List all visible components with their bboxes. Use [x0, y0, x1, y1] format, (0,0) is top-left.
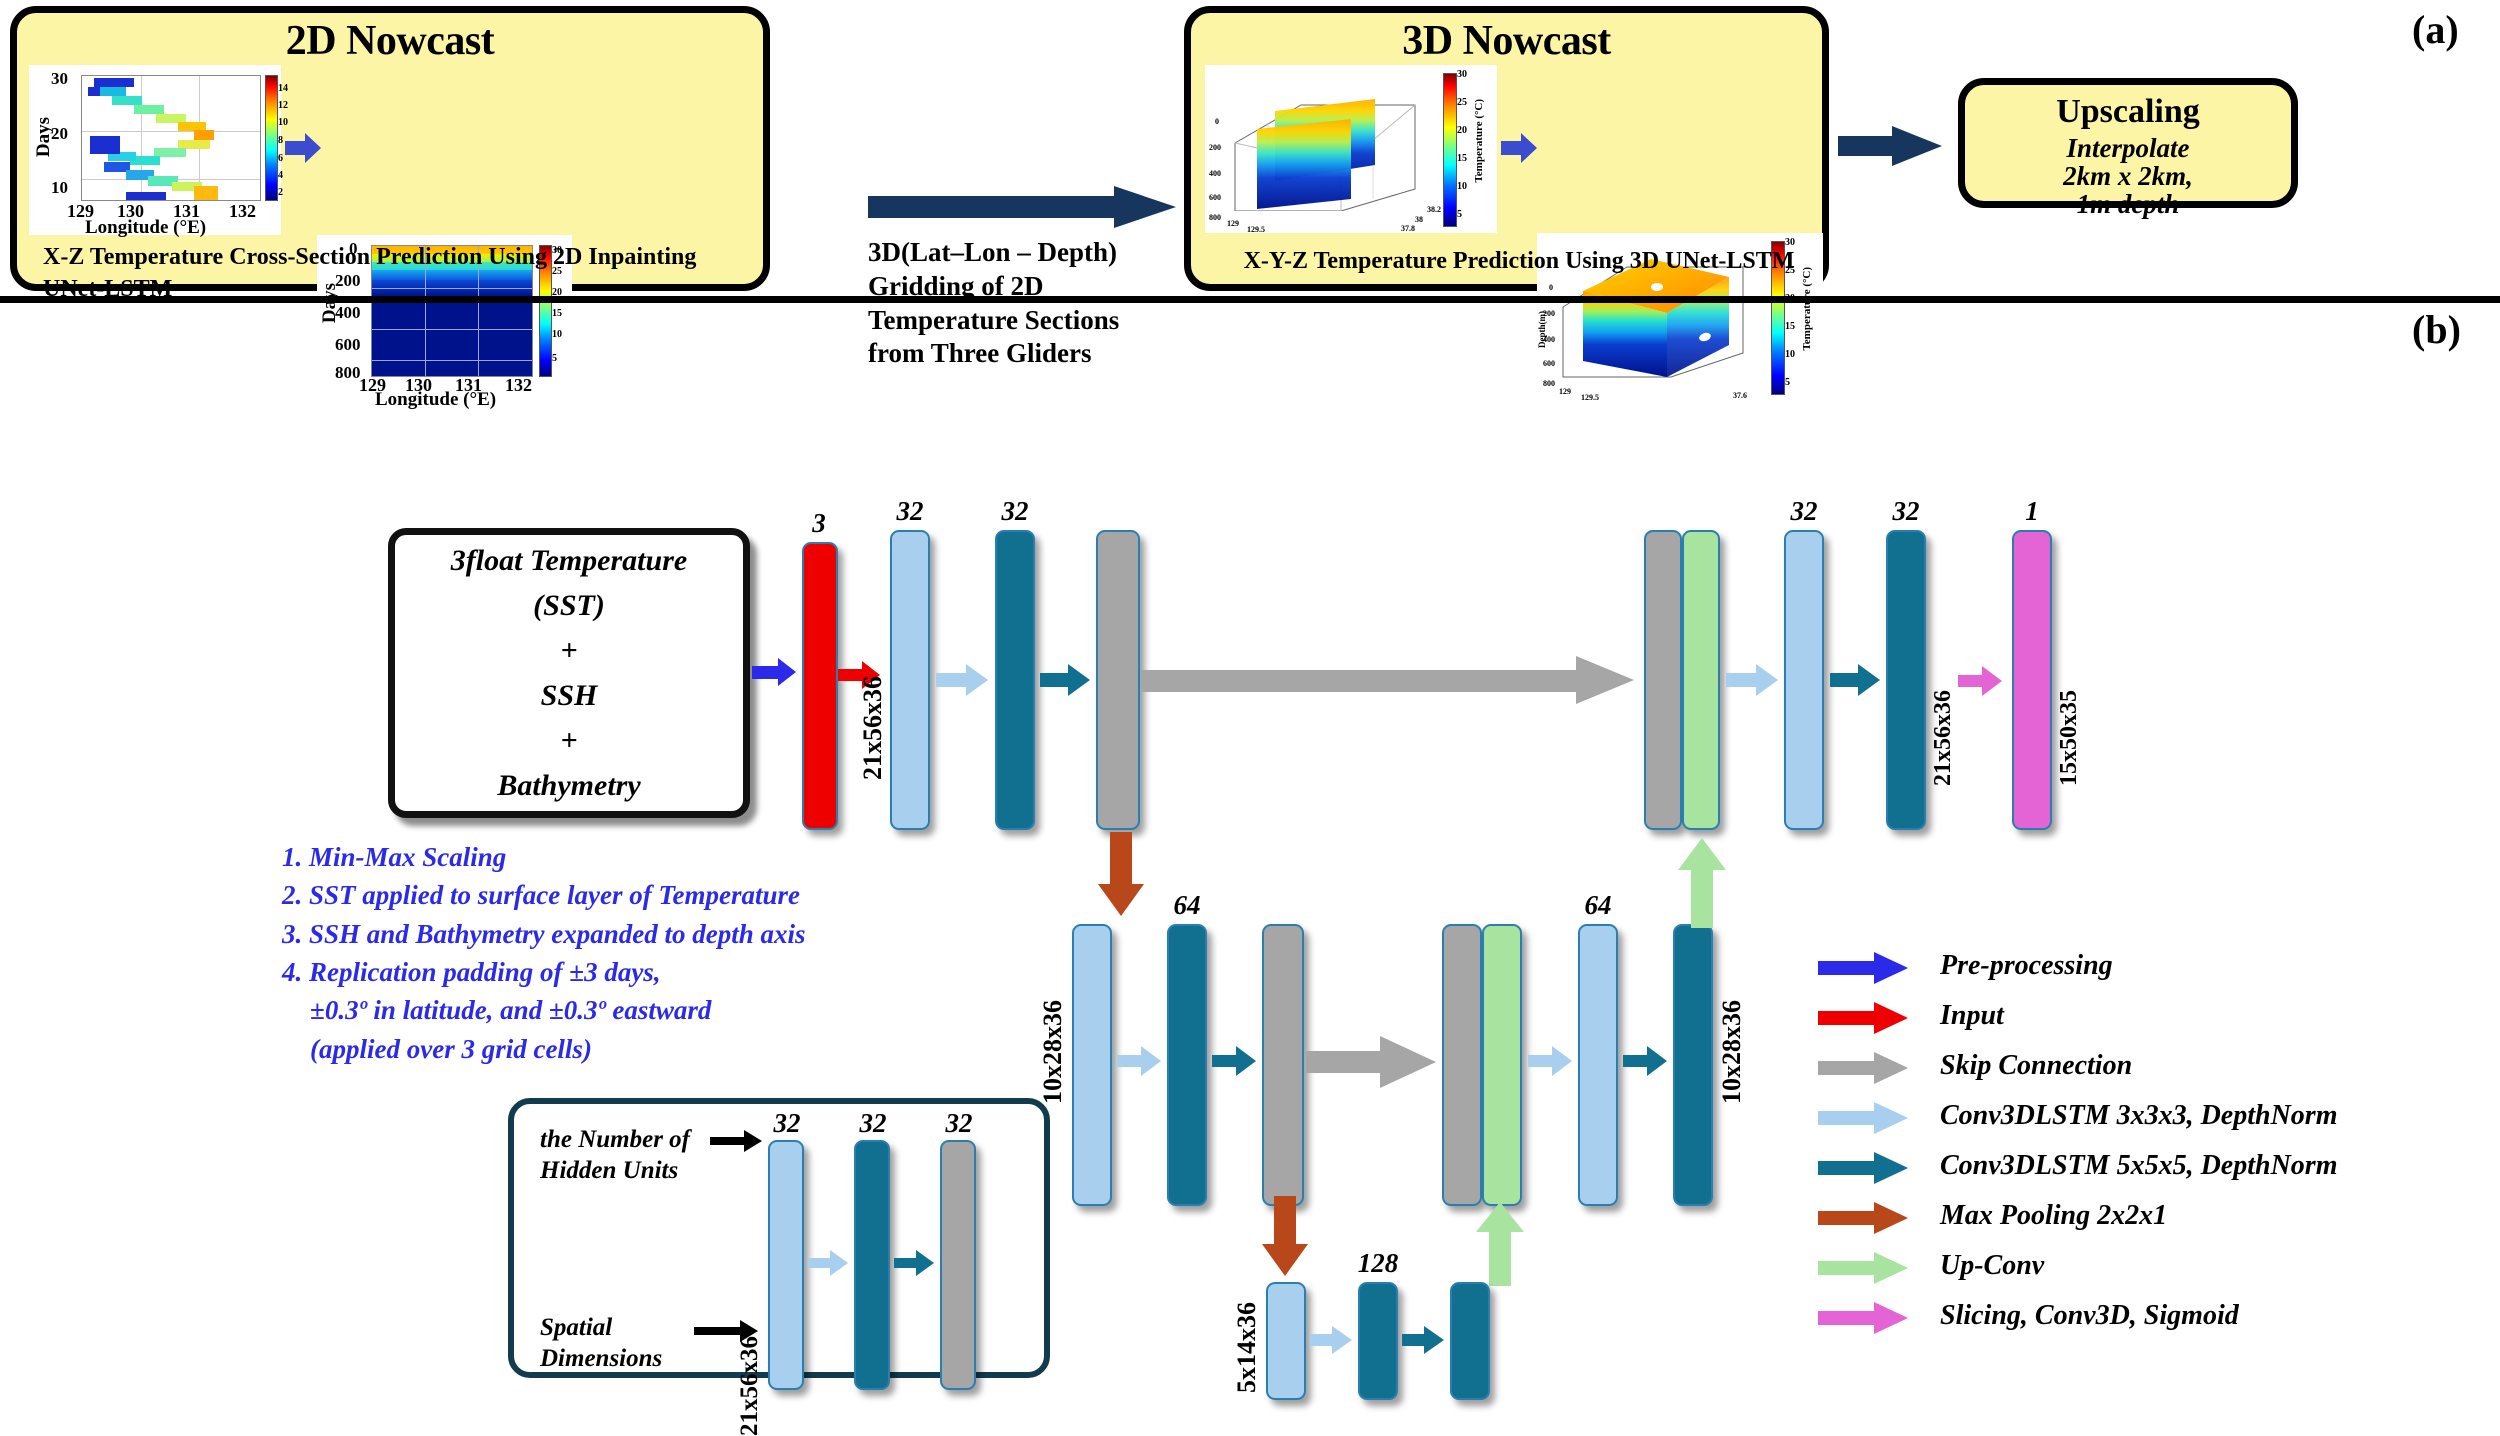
label-gridding: 3D(Lat–Lon – Depth) Gridding of 2D Tempe…: [868, 236, 1168, 371]
arrow-maxpool-1: [1098, 832, 1146, 918]
plot-3d-left-y382: 38.2: [1427, 205, 1441, 214]
arrow-upscaling: [1838, 124, 1948, 168]
cbar-3d-right-t5: 5: [1785, 377, 1790, 388]
input-line-2: (SST): [533, 583, 605, 628]
inset-dim-label: 21x56x36: [736, 1336, 764, 1436]
legend-arrow-max-pooling: [1818, 1202, 1918, 1232]
plot-3d-left-colorbar: [1443, 73, 1457, 227]
plot-3d-right-z800: 800: [1543, 379, 1555, 388]
upscaling-line-1: Interpolate: [1965, 133, 2291, 164]
note-2: 2. SST applied to surface layer of Tempe…: [282, 876, 942, 914]
input-line-4: SSH: [541, 673, 598, 718]
dim-mid-right: 10x28x36: [1717, 1000, 1747, 1104]
inset-block-1-label: 32: [764, 1108, 810, 1139]
inset-block-3: [940, 1140, 976, 1390]
legend-arrow-skip-connection: [1818, 1052, 1918, 1082]
inset-block-2: [854, 1140, 890, 1390]
legend-arrow-conv3dlstm-3: [1818, 1102, 1918, 1132]
block-enc2-conv3: [1072, 924, 1112, 1206]
block-enc1-conv3-label: 32: [885, 496, 935, 527]
notes-list: 1. Min-Max Scaling 2. SST applied to sur…: [282, 838, 942, 1068]
cbar-3d-left-t10: 10: [1457, 181, 1467, 192]
block-bottleneck: [1358, 1282, 1398, 1400]
arrow-dec1-conv5: [1830, 663, 1882, 697]
cbar-2d-right-t10: 10: [552, 329, 562, 340]
arrow-enc2-conv5: [1212, 1046, 1258, 1076]
block-enc1-conv5-label: 32: [990, 496, 1040, 527]
legend-arrow-slicing: [1818, 1302, 1918, 1332]
arrow-skip-mid: [1306, 1036, 1438, 1086]
upscaling-line-2: 2km x 2km,: [1965, 161, 2291, 192]
card-2d-nowcast: 2D Nowcast Days 30 20 10: [10, 6, 770, 291]
cbar-2d-left-t10: 10: [278, 117, 288, 128]
plot-3d-left-axes: [1223, 71, 1423, 211]
arrow-upconv-1: [1678, 838, 1726, 928]
block-enc3-conv5: [1450, 1282, 1490, 1400]
plot-2d-right-ytick-400: 400: [335, 303, 361, 323]
plot-3d-left-z600: 600: [1209, 193, 1221, 202]
inset-arrow-1: [808, 1250, 852, 1276]
plot-3d-left-z800: 800: [1209, 213, 1221, 222]
cbar-2d-left-t4: 4: [278, 170, 283, 181]
plot-3d-left-x1295: 129.5: [1247, 225, 1265, 234]
inset-block-3-label: 32: [936, 1108, 982, 1139]
arrow-upconv-2: [1476, 1202, 1524, 1286]
cbar-2d-right-t5: 5: [552, 353, 557, 364]
cbar-3d-left-t5: 5: [1457, 209, 1462, 220]
block-dec1-conv5: [1886, 530, 1926, 830]
cbar-2d-left-t12: 12: [278, 100, 288, 111]
arrow-enc3-conv3: [1310, 1326, 1354, 1354]
inset-label-hidden-units: the Number of Hidden Units: [540, 1124, 720, 1187]
block-output-label: 1: [2007, 496, 2057, 527]
arrow-skip-top: [1140, 656, 1640, 704]
note-4: 4. Replication padding of ±3 days,: [282, 953, 942, 991]
cbar-2d-left-t14: 14: [278, 83, 288, 94]
plot-2d-left-xlabel: Longitude (°E): [85, 217, 206, 239]
cbar-2d-left-t2: 2: [278, 187, 283, 198]
plot-3d-right-z600: 600: [1543, 359, 1555, 368]
arrow-gridding: [868, 186, 1178, 228]
legend-arrow-up-conv: [1818, 1252, 1918, 1282]
inset-label-spatial: Spatial Dimensions: [540, 1312, 710, 1375]
inset-arrow-hidden: [710, 1130, 772, 1152]
plot-3d-left-y38: 38: [1415, 215, 1423, 224]
cbar-3d-right-t10: 10: [1785, 349, 1795, 360]
plot-3d-left-y378: 37.8: [1401, 224, 1415, 233]
arrow-slicing: [1958, 666, 2006, 696]
plot-2d-left-ytick-30: 30: [51, 69, 68, 89]
legend-label-slicing: Slicing, Conv3D, Sigmoid: [1940, 1300, 2239, 1332]
arrow-2d-inner: [285, 131, 321, 165]
legend-label-max-pooling: Max Pooling 2x2x1: [1940, 1200, 2167, 1232]
note-6: (applied over 3 grid cells): [282, 1030, 942, 1068]
inset-box: the Number of Hidden Units Spatial Dimen…: [508, 1098, 1050, 1378]
title-3d-nowcast: 3D Nowcast: [1191, 17, 1822, 65]
note-1: 1. Min-Max Scaling: [282, 838, 942, 876]
legend-label-conv3dlstm-3: Conv3DLSTM 3x3x3, DepthNorm: [1940, 1100, 2337, 1132]
cbar-3d-left-t25: 25: [1457, 97, 1467, 108]
block-dec2-skip: [1442, 924, 1482, 1206]
note-5: ±0.3º in latitude, and ±0.3º eastward: [282, 991, 942, 1029]
input-line-3: +: [560, 628, 577, 673]
plot-2d-left-colorbar: [265, 75, 278, 201]
dim-bottom-left: 5x14x36: [1232, 1302, 1262, 1393]
cbar-3d-right-t15: 15: [1785, 321, 1795, 332]
cbar-2d-left-t8: 8: [278, 135, 283, 146]
inset-block-1: [768, 1140, 804, 1390]
card-3d-nowcast: 3D Nowcast: [1184, 6, 1829, 291]
panel-a-letter: (a): [2412, 6, 2459, 53]
arrow-maxpool-2: [1262, 1196, 1310, 1280]
title-2d-nowcast: 2D Nowcast: [17, 17, 763, 65]
cbar-2d-right-t15: 15: [552, 308, 562, 319]
block-enc3-conv3: [1266, 1282, 1306, 1400]
plot-3d-left-x129: 129: [1227, 219, 1239, 228]
legend-label-conv3dlstm-5: Conv3DLSTM 5x5x5, DepthNorm: [1940, 1150, 2337, 1182]
plot-3d-left-svg: [1223, 71, 1423, 211]
plot-3d-right-x1295: 129.5: [1581, 393, 1599, 402]
block-dec1-conv3: [1784, 530, 1824, 830]
upscaling-line-3: 1m depth: [1965, 189, 2291, 220]
legend-arrow-input: [1818, 1002, 1918, 1032]
inset-arrow-2: [894, 1250, 938, 1276]
block-bottleneck-label: 128: [1350, 1248, 1406, 1279]
plot-3d-right-zlabel: Depth(m): [1537, 311, 1547, 348]
arrow-preprocessing: [752, 655, 800, 691]
plot-2d-left-frame: [81, 75, 261, 201]
arrow-conv5-1: [1040, 663, 1092, 697]
cbar-3d-left-title: Temperature (°C): [1473, 99, 1485, 183]
legend-label-up-conv: Up-Conv: [1940, 1250, 2044, 1282]
arrow-bottleneck: [1402, 1326, 1446, 1354]
arrow-dec2-conv5: [1623, 1046, 1669, 1076]
cbar-3d-left-t30: 30: [1457, 69, 1467, 80]
plot-2d-left-ytick-10: 10: [51, 178, 68, 198]
legend-arrow-pre-processing: [1818, 952, 1918, 982]
arrow-enc2-conv3: [1117, 1046, 1163, 1076]
plot-2d-left-ytick-20: 20: [51, 124, 68, 144]
plot-3d-left-z0: 0: [1215, 117, 1219, 126]
block-dec2-conv3-label: 64: [1573, 890, 1623, 921]
legend-arrow-conv3dlstm-5: [1818, 1152, 1918, 1182]
block-enc1-conv3: [890, 530, 930, 830]
plot-2d-left-xtick-132: 132: [229, 201, 256, 222]
panel-divider: [0, 296, 2500, 303]
inset-block-2-label: 32: [850, 1108, 896, 1139]
arrow-3d-inner: [1501, 131, 1537, 165]
legend-label-input: Input: [1940, 1000, 2004, 1032]
block-skip-top: [1096, 530, 1140, 830]
panel-b-letter: (b): [2412, 306, 2461, 353]
cbar-2d-left-t6: 6: [278, 153, 283, 164]
legend-label-pre-processing: Pre-processing: [1940, 950, 2113, 982]
arrow-dec1-conv3: [1726, 663, 1780, 697]
block-skip-mid: [1262, 924, 1304, 1206]
plot-3d-right-y376: 37.6: [1733, 391, 1747, 400]
upscaling-title: Upscaling: [1965, 93, 2291, 131]
cbar-3d-right-title: Temperature (°C): [1801, 267, 1813, 351]
legend-label-skip-connection: Skip Connection: [1940, 1050, 2132, 1082]
input-line-5: +: [560, 718, 577, 763]
block-enc1-conv5: [995, 530, 1035, 830]
card-upscaling: Upscaling Interpolate 2km x 2km, 1m dept…: [1958, 78, 2298, 208]
cbar-3d-left-t20: 20: [1457, 125, 1467, 136]
plot-2d-right-xtick-132: 132: [505, 375, 532, 396]
plot-2d-right-xlabel: Longitude (°E): [375, 389, 496, 411]
dim-top-right-1: 21x56x36: [1930, 690, 1957, 786]
note-3: 3. SSH and Bathymetry expanded to depth …: [282, 915, 942, 953]
input-line-6: Bathymetry: [497, 763, 640, 808]
input-line-1: 3float Temperature: [451, 538, 687, 583]
arrow-dec2-conv3: [1528, 1046, 1574, 1076]
plot-2d-right-ytick-800: 800: [335, 363, 361, 383]
block-dec1-upconv: [1682, 530, 1720, 830]
block-dec1-conv3-label: 32: [1779, 496, 1829, 527]
block-output: [2012, 530, 2052, 830]
block-dec2-conv5-out: [1673, 924, 1713, 1206]
block-enc2-conv5: [1167, 924, 1207, 1206]
block-dec2-upconv: [1482, 924, 1522, 1206]
plot-3d-left: 0 200 400 600 800 129 129.5 38.2 38 37.8…: [1205, 65, 1497, 233]
plot-3d-left-z200: 200: [1209, 143, 1221, 152]
block-dec2-conv3: [1578, 924, 1618, 1206]
block-input-label: 3: [796, 508, 842, 539]
block-enc2-conv5-label: 64: [1162, 890, 1212, 921]
input-box: 3float Temperature (SST) + SSH + Bathyme…: [388, 528, 750, 818]
plot-2d-left: Days 30 20 10: [29, 65, 281, 235]
plot-2d-right-ytick-600: 600: [335, 335, 361, 355]
dim-top-right-2: 15x50x35: [2056, 690, 2083, 786]
block-dec1-skip: [1644, 530, 1682, 830]
dim-mid-left: 10x28x36: [1038, 1000, 1068, 1104]
dim-top-left: 21x56x36: [858, 676, 888, 780]
block-input: [802, 542, 838, 830]
block-dec1-conv5-label: 32: [1881, 496, 1931, 527]
arrow-conv3-1: [936, 663, 990, 697]
plot-3d-left-z400: 400: [1209, 169, 1221, 178]
cbar-3d-left-t15: 15: [1457, 153, 1467, 164]
caption-3d-nowcast: X-Y-Z Temperature Prediction Using 3D UN…: [1219, 245, 1819, 277]
plot-3d-right-z0: 0: [1549, 283, 1553, 292]
plot-3d-right-x129: 129: [1559, 387, 1571, 396]
